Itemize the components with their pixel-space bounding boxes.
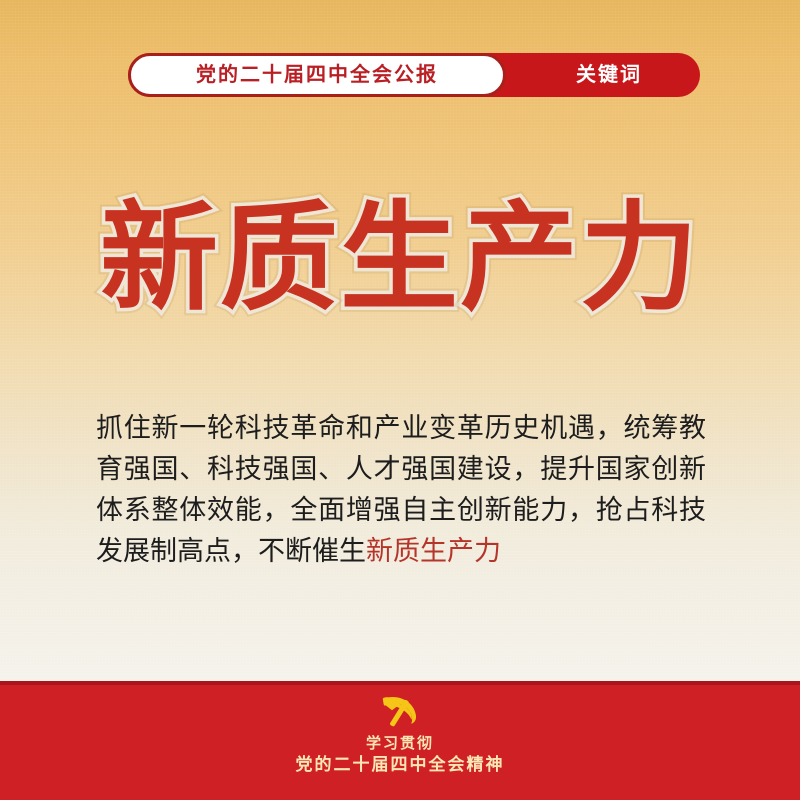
body-paragraph: 抓住新一轮科技革命和产业变革历史机遇，统筹教育强国、科技强国、人才强国建设，提升… (96, 408, 706, 572)
poster-canvas: 关键词 党的二十届四中全会公报 新质生产力 新质生产力 抓住新一轮科技革命和产业… (0, 0, 800, 800)
main-title-shadow: 新质生产力 (0, 196, 800, 321)
footer-content: 学习贯彻 党的二十届四中全会精神 (0, 685, 800, 800)
header-title-pill: 党的二十届四中全会公报 (128, 53, 506, 97)
footer-slogan-line-2: 党的二十届四中全会精神 (296, 754, 505, 776)
footer-band: 学习贯彻 党的二十届四中全会精神 (0, 681, 800, 800)
header-badge-bar: 关键词 党的二十届四中全会公报 (128, 53, 700, 97)
header-keyword-label: 关键词 (576, 65, 642, 85)
party-emblem-hammer-and-sickle-icon (376, 691, 424, 731)
header-pill-label: 党的二十届四中全会公报 (196, 65, 438, 85)
body-paragraph-highlight: 新质生产力 (366, 536, 501, 566)
header-keyword-tag: 关键词 (518, 53, 700, 97)
footer-slogan-line-1: 学习贯彻 (366, 734, 434, 754)
